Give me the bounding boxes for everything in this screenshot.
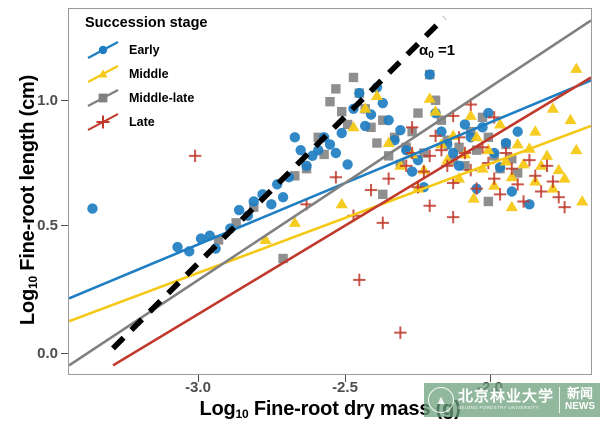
y-axis-title-subscript: 10 bbox=[26, 276, 40, 289]
legend-item-label: Late bbox=[129, 115, 155, 129]
triangle-icon bbox=[85, 63, 121, 85]
watermark-badge: ▲ 北京林业大学 BEIJING FORESTRY UNIVERSITY 新闻 … bbox=[424, 383, 600, 417]
legend-title: Succession stage bbox=[85, 15, 235, 31]
y-tick-mark-0 bbox=[61, 353, 68, 354]
watermark-news-en: NEWS bbox=[565, 401, 595, 412]
y-tick-mark-1 bbox=[61, 225, 68, 226]
y-tick-mark-2 bbox=[61, 100, 68, 101]
x-axis-title-prefix: Log bbox=[199, 398, 235, 420]
x-tick-mark-1 bbox=[345, 375, 346, 382]
legend-item-late[interactable]: Late bbox=[85, 110, 235, 134]
x-axis-title-subscript: 10 bbox=[236, 407, 249, 421]
circle-icon bbox=[85, 39, 121, 61]
alpha-annotation: α0 =1 bbox=[419, 42, 455, 61]
plot-panel: Succession stage Early Middle Middle-lat… bbox=[68, 8, 592, 375]
seal-glyph: ▲ bbox=[435, 394, 447, 406]
legend-item-label: Middle bbox=[129, 67, 169, 81]
watermark-news-cn: 新闻 bbox=[567, 388, 593, 402]
figure-canvas: Log10 Fine-root length (cm) Log10 Fine-r… bbox=[0, 0, 600, 436]
y-axis-title-prefix: Log bbox=[17, 289, 39, 325]
x-tick-mark-2 bbox=[490, 375, 491, 382]
plus-icon bbox=[85, 111, 121, 133]
y-axis-title: Log10 Fine-root length (cm) bbox=[17, 30, 41, 370]
y-tick-label-1: 0.5 bbox=[18, 217, 58, 234]
watermark-news: 新闻 NEWS bbox=[560, 383, 600, 417]
legend-item-early[interactable]: Early bbox=[85, 38, 235, 62]
fit-line-middle bbox=[69, 126, 591, 321]
watermark-university: ▲ 北京林业大学 BEIJING FORESTRY UNIVERSITY bbox=[424, 383, 559, 417]
square-icon bbox=[85, 87, 121, 109]
y-tick-label-0: 0.0 bbox=[18, 345, 58, 362]
alpha-value: =1 bbox=[434, 42, 455, 59]
alpha-symbol: α bbox=[419, 42, 428, 59]
legend-item-label: Middle-late bbox=[129, 91, 194, 105]
legend-item-label: Early bbox=[129, 43, 160, 57]
x-tick-mark-0 bbox=[198, 375, 199, 382]
legend-items: Early Middle Middle-late Late bbox=[85, 38, 235, 134]
watermark-english-name: BEIJING FORESTRY UNIVERSITY bbox=[458, 406, 554, 411]
legend-item-middle-late[interactable]: Middle-late bbox=[85, 86, 235, 110]
watermark-chinese-name: 北京林业大学 bbox=[458, 389, 554, 404]
legend-item-middle[interactable]: Middle bbox=[85, 62, 235, 86]
y-tick-label-2: 1.0 bbox=[18, 92, 58, 109]
university-seal-icon: ▲ bbox=[428, 387, 454, 413]
legend: Succession stage Early Middle Middle-lat… bbox=[85, 15, 235, 134]
